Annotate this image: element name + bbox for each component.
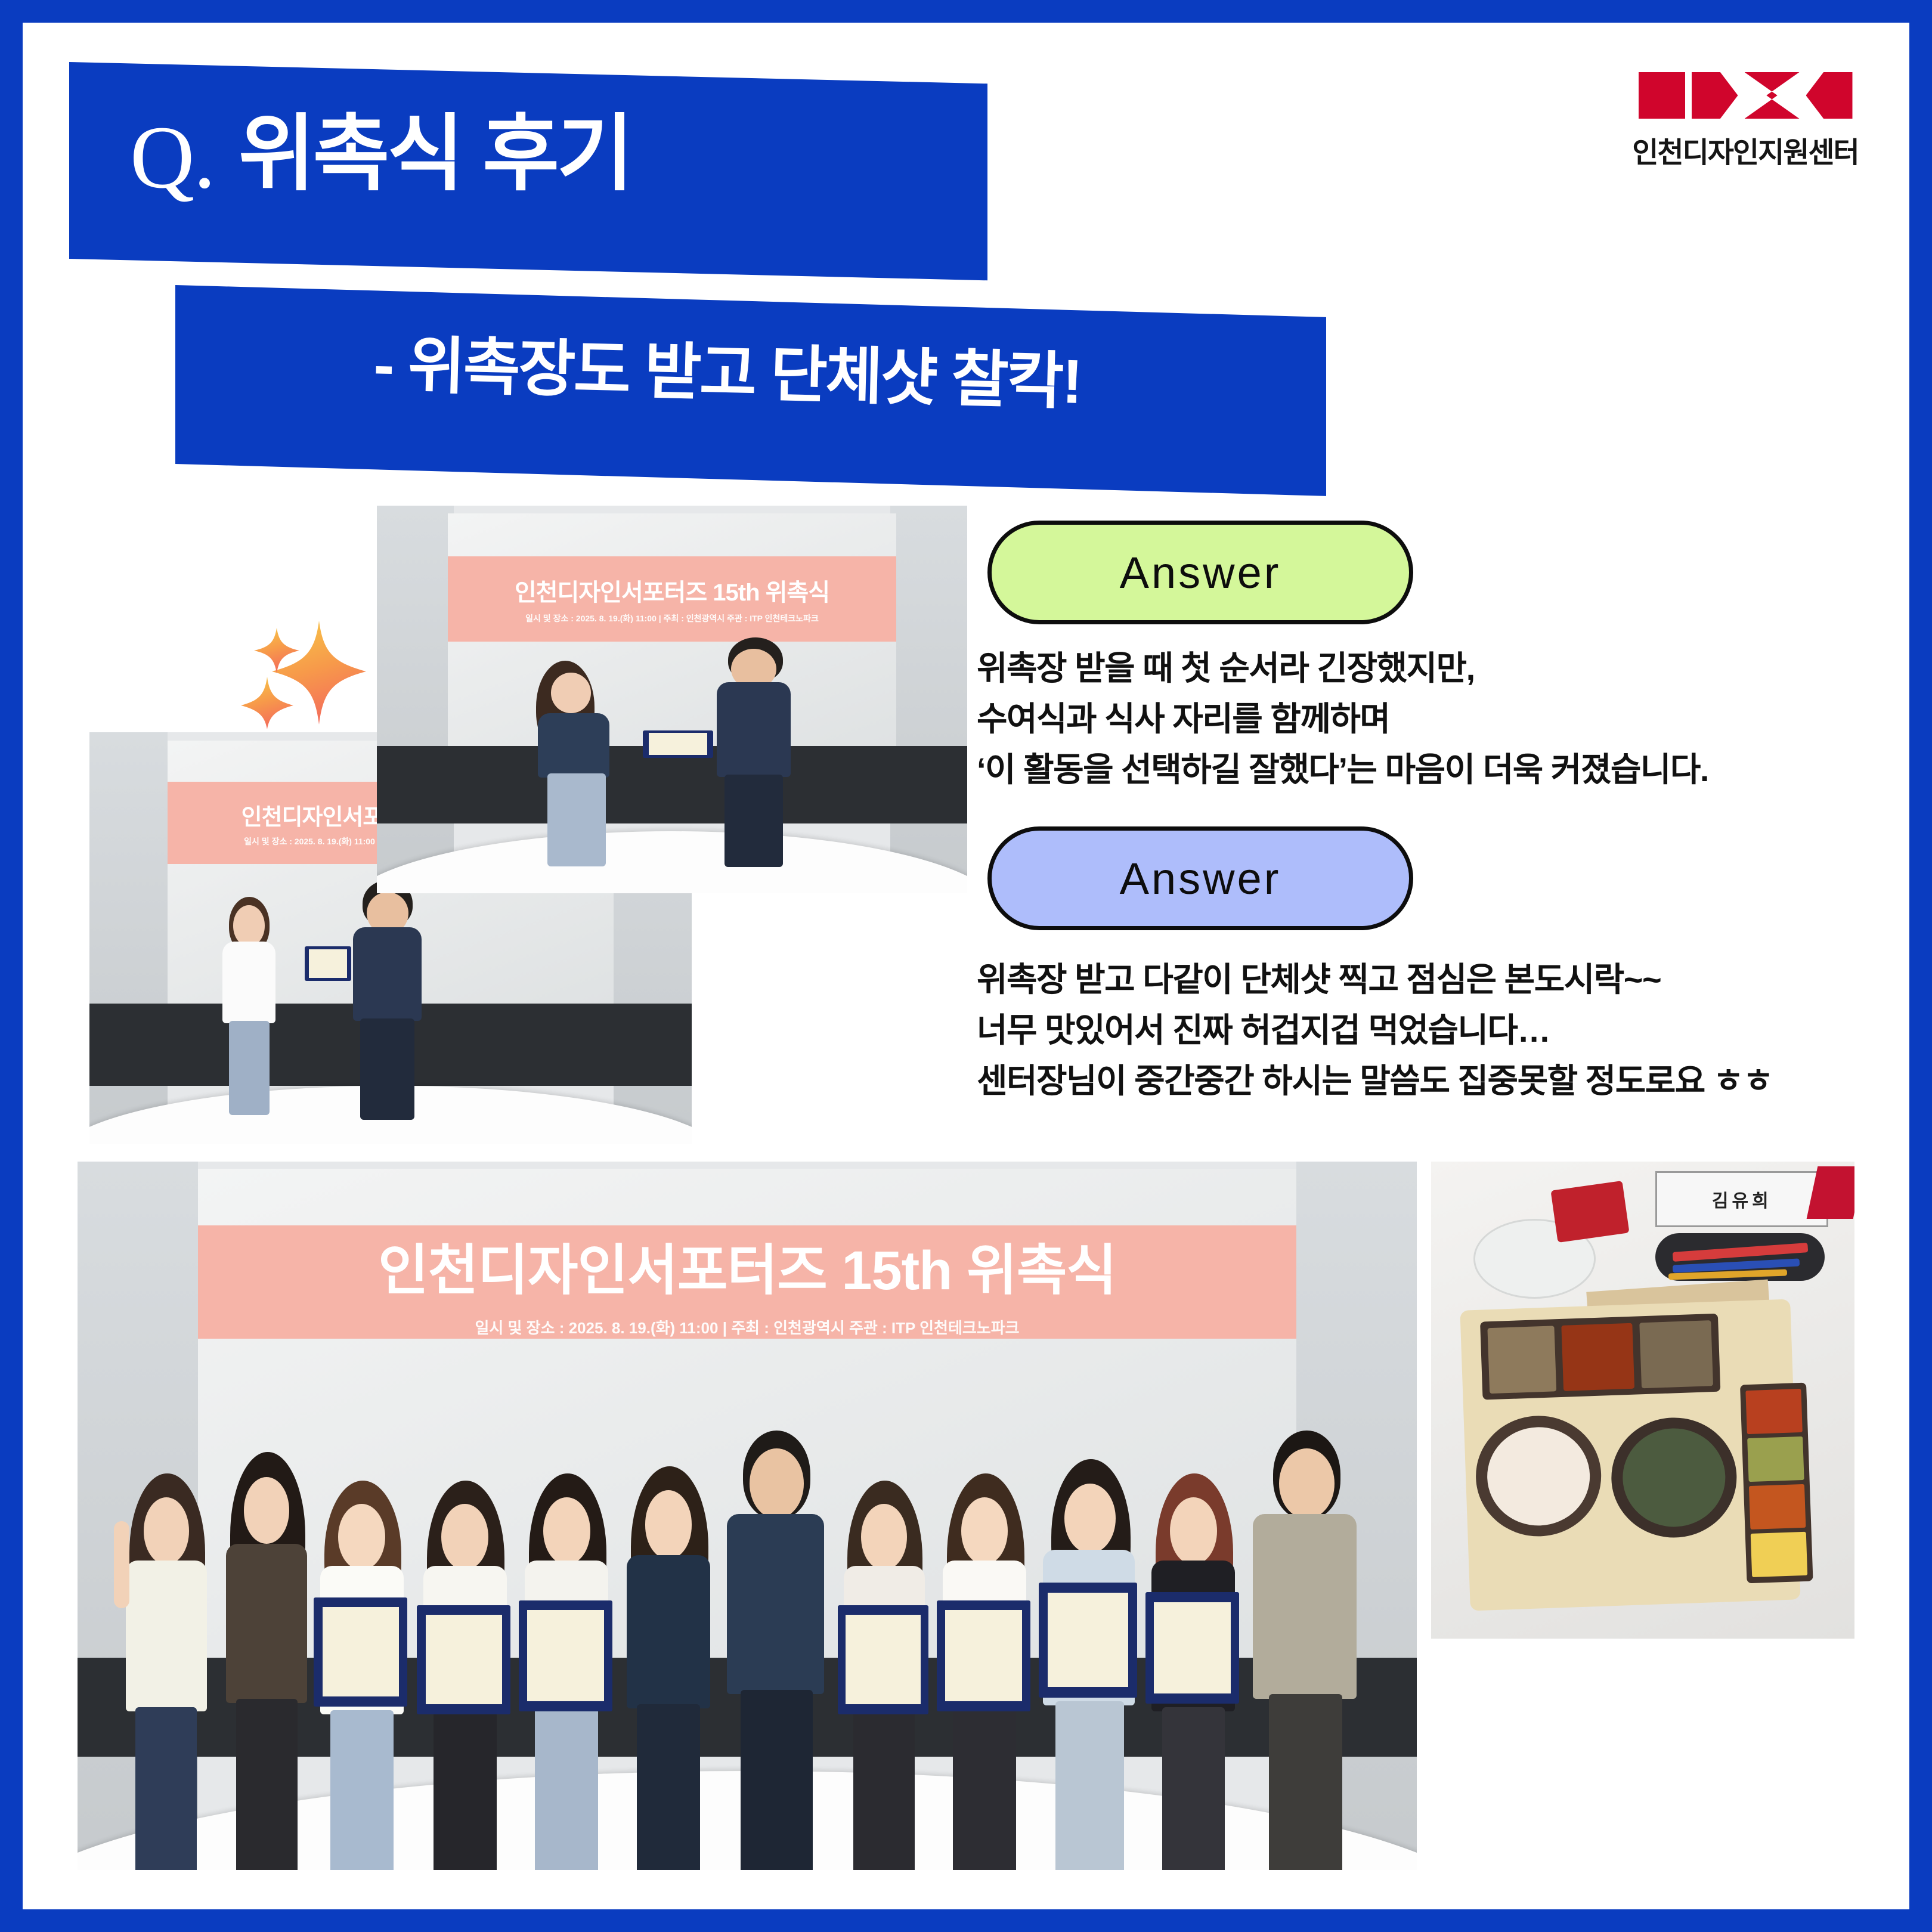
logo-c-icon [1806,72,1853,119]
answer-1-line-2: 수여식과 식사 자리를 함께하며 [977,693,1708,744]
page-title: 위촉식 후기 [239,112,631,198]
question-mark-label: Q. [130,117,215,198]
idsc-logo-mark [1629,72,1862,119]
answer-badge-1-label: Answer [1120,547,1281,598]
answer-1-line-1: 위촉장 받을 때 첫 순서라 긴장했지만, [977,643,1708,693]
answer-2-line-2: 너무 맛있어서 진짜 허겁지겁 먹었습니다… [977,1005,1773,1055]
idsc-logo: 인천디자인지원센터 [1629,72,1862,171]
answer-1-line-3-rest: 는 마음이 더욱 커졌습니다. [1347,751,1708,788]
event-banner-subline-1: 일시 및 장소 : 2025. 8. 19.(화) 11:00 | 주최 : 인… [525,612,819,624]
answer-badge-2-label: Answer [1120,853,1281,904]
answer-2-line-1: 위촉장 받고 다같이 단체샷 찍고 점심은 본도시락~~ [977,954,1773,1005]
answer-2-line-3: 센터장님이 중간중간 하시는 말씀도 집중못할 정도로요 ㅎㅎ [977,1055,1773,1106]
photo-group-shot: 인천디자인서포터즈 15th 위촉식 일시 및 장소 : 2025. 8. 19… [78,1162,1417,1870]
answer-body-2: 위촉장 받고 다같이 단체샷 찍고 점심은 본도시락~~ 너무 맛있어서 진짜 … [977,954,1773,1106]
answer-badge-2: Answer [987,826,1413,930]
page-subtitle: - 위촉장도 받고 단체샷 찰칵! [373,334,1082,413]
photo-lunchbox: 김유희 [1431,1162,1854,1639]
event-banner-title-1: 인천디자인서포터즈 15th 위촉식 [515,573,829,608]
answer-badge-1: Answer [987,521,1413,624]
answer-1-highlight: ‘이 활동을 선택하길 잘했다’ [977,751,1347,788]
logo-name-label: 인천디자인지원센터 [1629,129,1862,171]
lunchbox-nameplate-label: 김유희 [1712,1186,1772,1212]
photo-award-closeup: 인천디자인서포터즈 15th 위촉식 일시 및 장소 : 2025. 8. 19… [377,506,967,893]
poster-card: Q. 위촉식 후기 - 위촉장도 받고 단체샷 찰칵! 인천디자인지원센터 [23,23,1909,1909]
event-banner-title-3: 인천디자인서포터즈 15th 위촉식 [378,1226,1116,1305]
sparkles-icon [233,610,376,729]
logo-square-icon [1639,72,1685,119]
answer-body-1: 위촉장 받을 때 첫 순서라 긴장했지만, 수여식과 식사 자리를 함께하며 ‘… [977,643,1708,795]
logo-d-icon [1692,72,1738,119]
title-row: Q. 위촉식 후기 [130,112,631,198]
answer-1-line-3: ‘이 활동을 선택하길 잘했다’는 마음이 더욱 커졌습니다. [977,744,1708,795]
event-banner-subline-3: 일시 및 장소 : 2025. 8. 19.(화) 11:00 | 주최 : 인… [475,1316,1019,1338]
logo-s-icon [1745,72,1800,119]
lunchbox-nameplate: 김유희 [1655,1171,1828,1227]
